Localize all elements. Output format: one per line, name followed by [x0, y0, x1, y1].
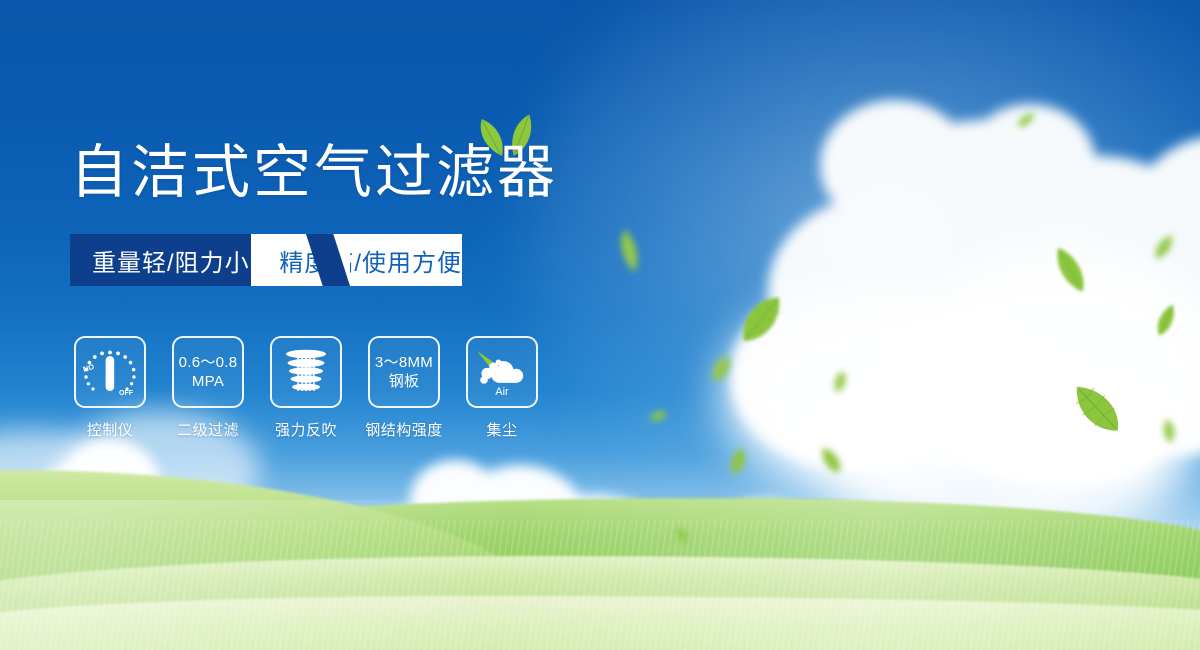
feature-label: 二级过滤	[177, 419, 239, 440]
feature-icon-box: 3～8MM 钢板	[368, 336, 440, 408]
feature-label: 强力反吹	[275, 419, 337, 440]
feature-label: 控制仪	[87, 419, 134, 440]
pressure-text-icon-line1: 0.6～0.8	[179, 353, 238, 372]
falling-leaf-11	[1158, 417, 1179, 445]
tagline-banner: 重量轻/阻力小 精度高/使用方便	[70, 234, 462, 286]
feature-icon-box	[270, 336, 342, 408]
feature-item-steel[interactable]: 3～8MM 钢板 钢结构强度	[368, 336, 440, 440]
gauge-label-on: NO	[82, 362, 96, 374]
tagline-primary-text: 重量轻/阻力小	[70, 243, 250, 278]
gauge-label-off: OFF	[119, 390, 134, 397]
filter-cartridge-icon	[280, 346, 332, 398]
feature-item-blowback[interactable]: 强力反吹	[270, 336, 342, 440]
feature-icon-box: Air	[466, 336, 538, 408]
air-cloud-icon: Air	[473, 347, 531, 397]
feature-label: 集尘	[486, 419, 517, 440]
banner-content: 自洁式空气过滤器 重量轻/阻力小 精度高/使用方便	[70, 0, 710, 650]
control-gauge-icon: NO OFF	[81, 345, 139, 399]
pressure-text-icon-line2: MPA	[192, 372, 224, 391]
page-title: 自洁式空气过滤器	[70, 144, 558, 202]
tagline-secondary-text: 精度高/使用方便	[251, 243, 462, 278]
feature-item-control[interactable]: NO OFF 控制仪	[74, 336, 146, 440]
steel-plate-text-icon-line1: 3～8MM	[375, 353, 433, 372]
air-label: Air	[495, 386, 509, 397]
tagline-primary: 重量轻/阻力小	[70, 234, 251, 286]
feature-icon-box: NO OFF	[74, 336, 146, 408]
tagline-secondary: 精度高/使用方便	[251, 234, 462, 286]
steel-plate-text-icon-line2: 钢板	[389, 372, 420, 391]
feature-item-pressure[interactable]: 0.6～0.8 MPA 二级过滤	[172, 336, 244, 440]
promotional-banner: 自洁式空气过滤器 重量轻/阻力小 精度高/使用方便	[0, 0, 1200, 650]
feature-label: 钢结构强度	[365, 419, 443, 440]
feature-list: NO OFF 控制仪 0.6～0.8 MPA 二级过滤	[74, 336, 538, 440]
feature-icon-box: 0.6～0.8 MPA	[172, 336, 244, 408]
feature-item-dust[interactable]: Air 集尘	[466, 336, 538, 440]
